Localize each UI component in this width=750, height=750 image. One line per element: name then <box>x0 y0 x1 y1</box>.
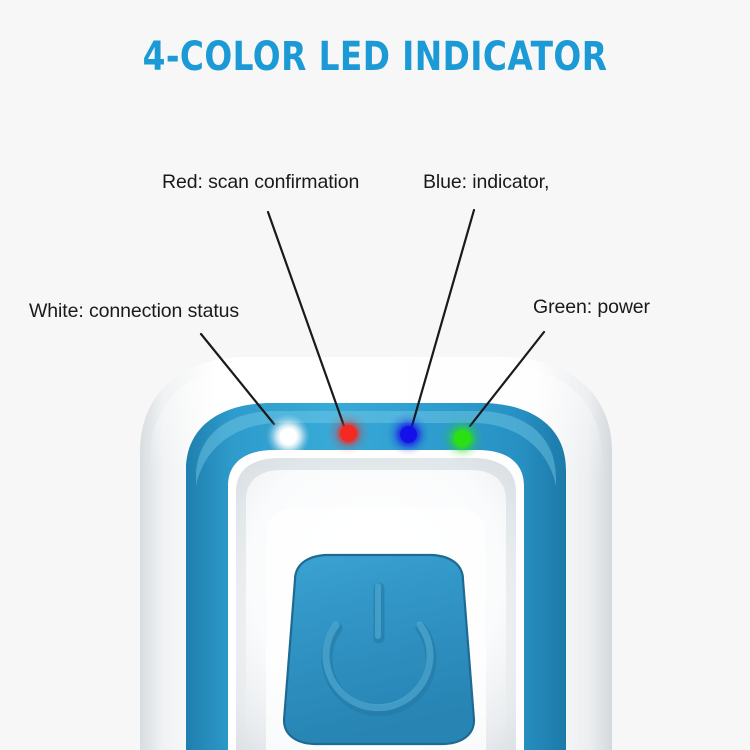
led-red-core <box>340 425 357 442</box>
power-button[interactable] <box>284 555 474 744</box>
callout-label-red: Red: scan confirmation <box>162 171 359 194</box>
led-red[interactable] <box>324 409 372 457</box>
infographic-canvas: 4-COLOR LED INDICATOR Red: scan confirma… <box>0 0 750 750</box>
product-illustration <box>0 0 750 750</box>
led-blue[interactable] <box>384 410 432 458</box>
led-green-core <box>454 430 471 447</box>
led-white[interactable] <box>264 412 312 460</box>
callout-label-green: Green: power <box>533 296 650 319</box>
led-green[interactable] <box>438 414 486 462</box>
callout-label-blue: Blue: indicator, <box>423 171 549 194</box>
led-blue-core <box>400 426 417 443</box>
led-white-core <box>280 428 297 445</box>
callout-label-white: White: connection status <box>29 300 239 323</box>
page-title: 4-COLOR LED INDICATOR <box>68 34 683 80</box>
